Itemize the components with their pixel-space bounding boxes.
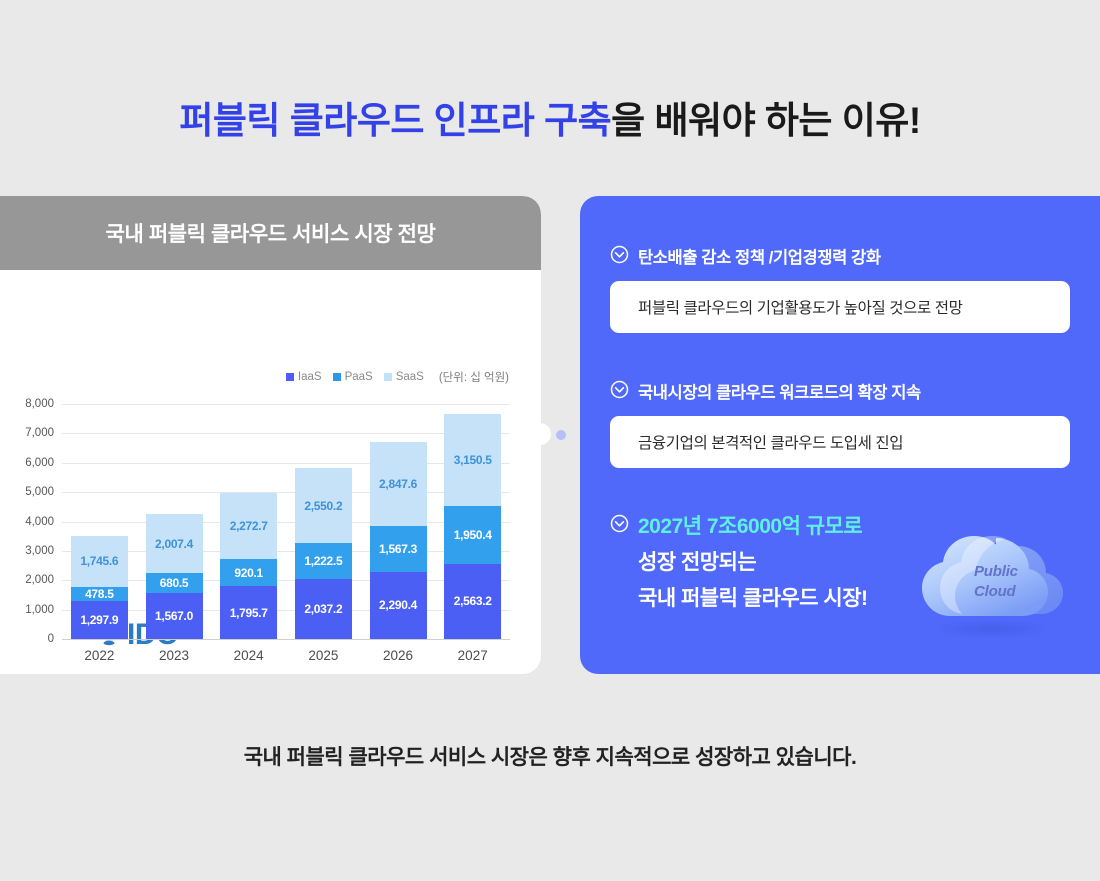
cloud-label: Public Cloud (974, 562, 1018, 603)
bar-segment-saas-2025: 2,550.2 (295, 468, 352, 543)
page-title-highlight: 퍼블릭 클라우드 인프라 구축 (179, 100, 611, 141)
bar-segment-saas-2026: 2,847.6 (370, 442, 427, 526)
info-item-2: 국내시장의 클라우드 워크로드의 확장 지속 금융기업의 본격적인 클라우드 도… (610, 379, 1070, 468)
x-axis-line: 0 (62, 639, 510, 640)
bar-segment-saas-2023: 2,007.4 (146, 514, 203, 573)
stacked-bar-2022: 1,745.6478.51,297.9 (71, 536, 128, 639)
bar-group: 2,007.4680.51,567.0 (137, 404, 212, 639)
legend-item-iaas: IaaS (286, 371, 322, 383)
info-item-1-box: 퍼블릭 클라우드의 기업활용도가 높아질 것으로 전망 (610, 281, 1070, 333)
x-axis-label-2025: 2025 (286, 648, 361, 663)
bar-segment-paas-2022: 478.5 (71, 587, 128, 601)
info-item-2-heading: 국내시장의 클라우드 워크로드의 확장 지속 (638, 379, 921, 403)
info-item-1-heading: 탄소배출 감소 정책 /기업경쟁력 강화 (638, 244, 881, 268)
bar-group: 3,150.51,950.42,563.2 (435, 404, 510, 639)
bar-segment-saas-2022: 1,745.6 (71, 536, 128, 587)
bottom-caption: 국내 퍼블릭 클라우드 서비스 시장은 향후 지속적으로 성장하고 있습니다. (0, 741, 1100, 771)
bar-segment-paas-2027: 1,950.4 (444, 506, 501, 563)
legend-item-paas: PaaS (333, 371, 373, 383)
bar-segment-paas-2026: 1,567.3 (370, 526, 427, 572)
chart-unit-note: (단위: 십 억원) (439, 369, 509, 385)
carousel-dot-inactive[interactable] (556, 430, 566, 440)
cloud-label-line2: Cloud (974, 582, 1018, 602)
y-tick-label: 4,000 (25, 516, 54, 528)
y-tick-label: 8,000 (25, 398, 54, 410)
y-tick-label: 1,000 (25, 604, 54, 616)
legend-swatch-paas (333, 373, 341, 381)
legend-swatch-iaas (286, 373, 294, 381)
stacked-bar-2026: 2,847.61,567.32,290.4 (370, 442, 427, 639)
info-item-2-heading-row: 국내시장의 클라우드 워크로드의 확장 지속 (610, 379, 1070, 404)
info-panel: 탄소배출 감소 정책 /기업경쟁력 강화 퍼블릭 클라우드의 기업활용도가 높아… (580, 196, 1100, 674)
y-tick-label: 0 (48, 633, 54, 645)
cloud-label-line1: Public (974, 562, 1018, 582)
info-item-1-heading-row: 탄소배출 감소 정책 /기업경쟁력 강화 (610, 244, 1070, 269)
page-title-rest: 을 배워야 하는 이유! (611, 100, 920, 141)
legend-swatch-saas (384, 373, 392, 381)
bar-segment-iaas-2024: 1,795.7 (220, 586, 277, 639)
info-item-3-line2: 성장 전망되는 (638, 545, 868, 581)
stacked-bar-2024: 2,272.7920.11,795.7 (220, 493, 277, 640)
carousel-dot-active[interactable] (529, 423, 551, 445)
poster-root: 퍼블릭 클라우드 인프라 구축을 배워야 하는 이유! 국내 퍼블릭 클라우드 … (0, 0, 1100, 881)
bar-segment-paas-2023: 680.5 (146, 573, 203, 593)
x-axis-label-2022: 2022 (62, 648, 137, 663)
info-item-3: 2027년 7조6000억 규모로 성장 전망되는 국내 퍼블릭 클라우드 시장… (610, 509, 868, 617)
chart-x-axis-labels: 202220232024202520262027 (62, 648, 510, 663)
x-axis-label-2024: 2024 (211, 648, 286, 663)
bar-segment-iaas-2022: 1,297.9 (71, 601, 128, 639)
legend-label-saas: SaaS (396, 371, 424, 383)
bar-segment-iaas-2025: 2,037.2 (295, 579, 352, 639)
info-item-3-text: 2027년 7조6000억 규모로 성장 전망되는 국내 퍼블릭 클라우드 시장… (638, 509, 868, 617)
chart-card-header: 국내 퍼블릭 클라우드 서비스 시장 전망 (0, 196, 541, 270)
info-item-3-line1: 2027년 7조6000억 규모로 (638, 509, 868, 545)
info-item-3-line3: 국내 퍼블릭 클라우드 시장! (638, 581, 868, 617)
bar-segment-paas-2025: 1,222.5 (295, 543, 352, 579)
chart-plot-area: 8,000 7,000 6,000 5,000 4,000 3,000 2,00… (62, 404, 510, 639)
y-tick-label: 3,000 (25, 545, 54, 557)
info-item-1: 탄소배출 감소 정책 /기업경쟁력 강화 퍼블릭 클라우드의 기업활용도가 높아… (610, 244, 1070, 333)
chart-card-title: 국내 퍼블릭 클라우드 서비스 시장 전망 (106, 218, 436, 248)
stacked-bar-2023: 2,007.4680.51,567.0 (146, 514, 203, 639)
y-tick-label: 7,000 (25, 427, 54, 439)
bar-group: 2,847.61,567.32,290.4 (361, 404, 436, 639)
legend-label-iaas: IaaS (298, 371, 322, 383)
bar-segment-iaas-2023: 1,567.0 (146, 593, 203, 639)
bar-segment-paas-2024: 920.1 (220, 559, 277, 586)
chart-body: IaaS PaaS SaaS (단위: 십 억원) (0, 270, 541, 674)
x-axis-label-2027: 2027 (435, 648, 510, 663)
x-axis-label-2023: 2023 (137, 648, 212, 663)
check-circle-icon (610, 245, 629, 269)
bar-group: 1,745.6478.51,297.9 (62, 404, 137, 639)
y-tick-label: 2,000 (25, 574, 54, 586)
chart-legend: IaaS PaaS SaaS (단위: 십 억원) (286, 369, 509, 385)
legend-item-saas: SaaS (384, 371, 424, 383)
bar-segment-saas-2027: 3,150.5 (444, 414, 501, 507)
public-cloud-graphic: Public Cloud (900, 516, 1075, 641)
info-item-2-box: 금융기업의 본격적인 클라우드 도입세 진입 (610, 416, 1070, 468)
stacked-bar-2025: 2,550.21,222.52,037.2 (295, 468, 352, 639)
check-circle-icon (610, 514, 629, 538)
bar-segment-iaas-2026: 2,290.4 (370, 572, 427, 639)
bar-segment-iaas-2027: 2,563.2 (444, 564, 501, 639)
page-title: 퍼블릭 클라우드 인프라 구축을 배워야 하는 이유! (0, 90, 1100, 144)
y-tick-label: 6,000 (25, 457, 54, 469)
y-tick-label: 5,000 (25, 486, 54, 498)
chart-card: 국내 퍼블릭 클라우드 서비스 시장 전망 IaaS PaaS SaaS (단위… (0, 196, 541, 674)
stacked-bar-2027: 3,150.51,950.42,563.2 (444, 414, 501, 639)
bar-segment-saas-2024: 2,272.7 (220, 493, 277, 560)
x-axis-label-2026: 2026 (361, 648, 436, 663)
bar-group: 2,550.21,222.52,037.2 (286, 404, 361, 639)
bar-group: 2,272.7920.11,795.7 (211, 404, 286, 639)
legend-label-paas: PaaS (345, 371, 373, 383)
check-circle-icon (610, 380, 629, 404)
chart-bars: 1,745.6478.51,297.92,007.4680.51,567.02,… (62, 404, 510, 639)
info-item-3-heading-row: 2027년 7조6000억 규모로 성장 전망되는 국내 퍼블릭 클라우드 시장… (610, 509, 868, 617)
